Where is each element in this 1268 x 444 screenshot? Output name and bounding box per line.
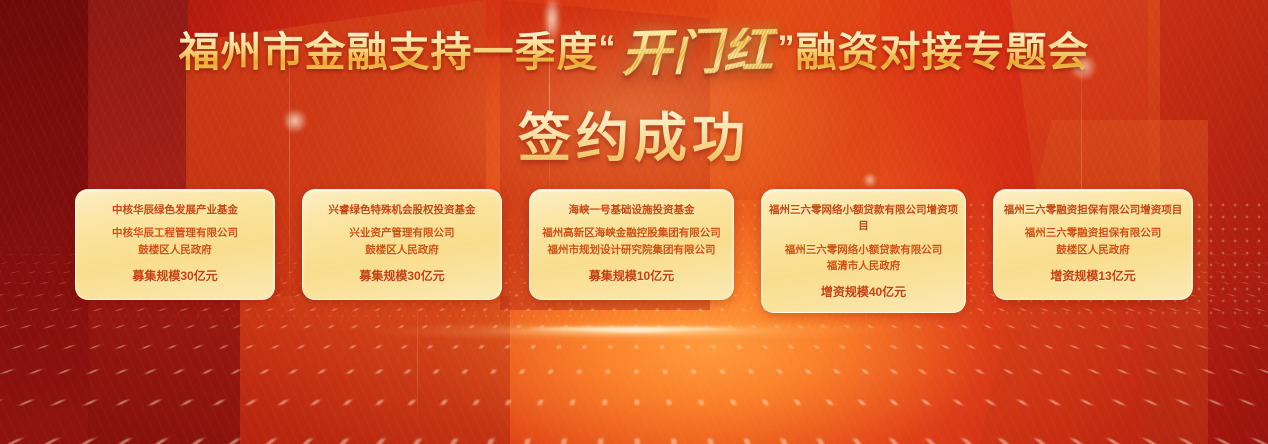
card-party: 中核华辰工程管理有限公司 bbox=[83, 225, 267, 241]
card-scale: 募集规模30亿元 bbox=[83, 267, 267, 285]
signing-card: 福州三六零融资担保有限公司增资项目 福州三六零融资担保有限公司 鼓楼区人民政府 … bbox=[993, 189, 1193, 300]
title-highlight: 开门红 bbox=[616, 27, 778, 76]
main-title: 福州市金融支持一季度“开门红”融资对接专题会 bbox=[179, 26, 1090, 76]
card-project-name: 福州三六零网络小额贷款有限公司增资项目 bbox=[769, 202, 958, 235]
quote-close: ” bbox=[778, 29, 796, 67]
card-parties: 兴业资产管理有限公司 鼓楼区人民政府 bbox=[310, 225, 494, 258]
card-party: 鼓楼区人民政府 bbox=[310, 242, 494, 258]
card-party: 福州三六零融资担保有限公司 bbox=[1001, 225, 1185, 241]
event-banner: 福州市金融支持一季度“开门红”融资对接专题会 签约成功 中核华辰绿色发展产业基金… bbox=[0, 0, 1268, 444]
title-segment-tail: 融资对接专题会 bbox=[796, 29, 1090, 75]
signing-card: 福州三六零网络小额贷款有限公司增资项目 福州三六零网络小额贷款有限公司 福清市人… bbox=[761, 189, 966, 313]
card-project-name: 福州三六零融资担保有限公司增资项目 bbox=[1001, 202, 1185, 218]
card-party: 福州三六零网络小额贷款有限公司 bbox=[769, 242, 958, 258]
title-segment-lead: 福州市金融支持一季度 bbox=[179, 29, 599, 75]
card-scale: 募集规模10亿元 bbox=[537, 267, 726, 285]
card-party: 鼓楼区人民政府 bbox=[83, 242, 267, 258]
card-parties: 福州三六零网络小额贷款有限公司 福清市人民政府 bbox=[769, 242, 958, 275]
card-parties: 福州高新区海峡金融控股集团有限公司 福州市规划设计研究院集团有限公司 bbox=[537, 225, 726, 258]
signing-card: 海峡一号基础设施投资基金 福州高新区海峡金融控股集团有限公司 福州市规划设计研究… bbox=[529, 189, 734, 300]
card-project-name: 中核华辰绿色发展产业基金 bbox=[83, 202, 267, 218]
signing-card: 兴睿绿色特殊机会股权投资基金 兴业资产管理有限公司 鼓楼区人民政府 募集规模30… bbox=[302, 189, 502, 300]
card-project-name: 海峡一号基础设施投资基金 bbox=[537, 202, 726, 218]
card-parties: 中核华辰工程管理有限公司 鼓楼区人民政府 bbox=[83, 225, 267, 258]
card-scale: 募集规模30亿元 bbox=[310, 267, 494, 285]
card-scale: 增资规模13亿元 bbox=[1001, 267, 1185, 285]
horizon-glow-core bbox=[529, 327, 739, 331]
quote-open: “ bbox=[599, 29, 617, 67]
card-party: 福州高新区海峡金融控股集团有限公司 bbox=[537, 225, 726, 241]
title-block: 福州市金融支持一季度“开门红”融资对接专题会 bbox=[0, 26, 1268, 76]
card-parties: 福州三六零融资担保有限公司 鼓楼区人民政府 bbox=[1001, 225, 1185, 258]
subtitle-block: 签约成功 bbox=[0, 96, 1268, 172]
card-scale: 增资规模40亿元 bbox=[769, 283, 958, 301]
signing-card: 中核华辰绿色发展产业基金 中核华辰工程管理有限公司 鼓楼区人民政府 募集规模30… bbox=[75, 189, 275, 300]
horizon-glow bbox=[254, 316, 1014, 346]
card-party: 兴业资产管理有限公司 bbox=[310, 225, 494, 241]
card-project-name: 兴睿绿色特殊机会股权投资基金 bbox=[310, 202, 494, 218]
card-party: 福州市规划设计研究院集团有限公司 bbox=[537, 242, 726, 258]
subtitle: 签约成功 bbox=[518, 96, 750, 172]
signing-card-list: 中核华辰绿色发展产业基金 中核华辰工程管理有限公司 鼓楼区人民政府 募集规模30… bbox=[0, 189, 1268, 313]
card-party: 鼓楼区人民政府 bbox=[1001, 242, 1185, 258]
light-guide-line bbox=[417, 300, 418, 430]
card-party: 福清市人民政府 bbox=[769, 258, 958, 274]
